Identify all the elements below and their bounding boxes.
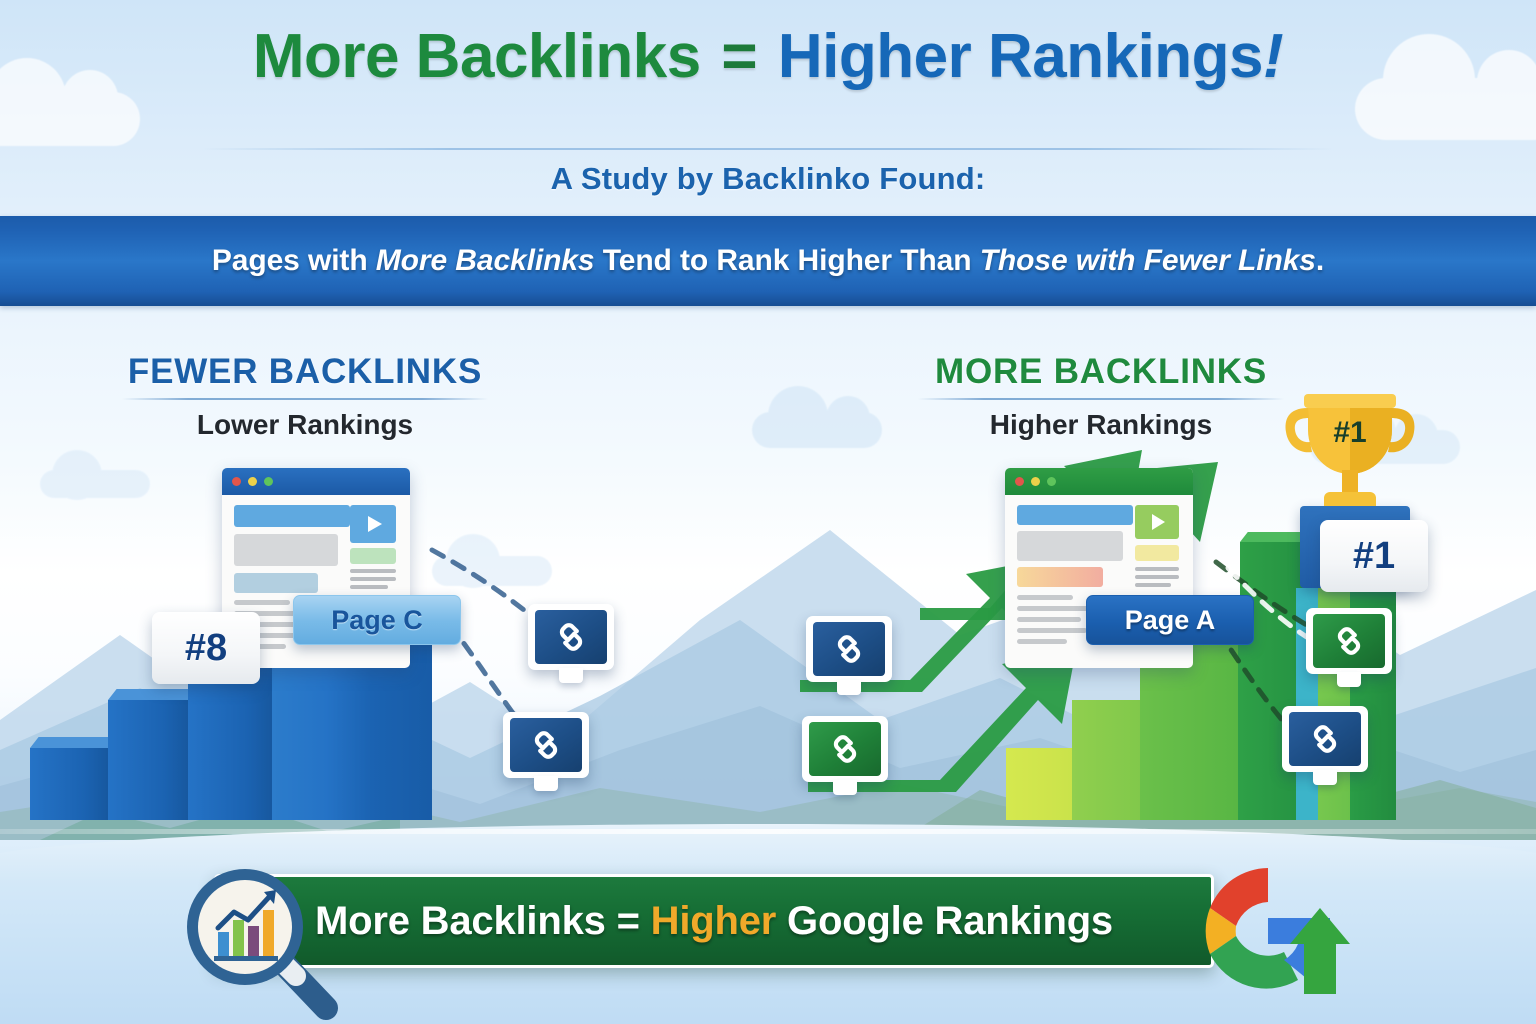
content-line — [350, 577, 396, 581]
page-title: More Backlinks = Higher Rankings! — [0, 26, 1536, 88]
video-thumbnail — [1135, 505, 1179, 539]
video-thumbnail — [350, 505, 396, 543]
link-chain-icon — [553, 619, 589, 655]
band-emphasis-1: More Backlinks — [376, 244, 595, 277]
link-chain-icon — [528, 727, 564, 763]
content-line — [234, 600, 290, 605]
statement-band: Pages with More Backlinks Tend to Rank H… — [0, 216, 1536, 306]
fewer-backlinks-heading: FEWER BACKLINKS — [122, 352, 488, 392]
content-line — [350, 585, 388, 589]
band-emphasis-2: Those with Fewer Links — [980, 244, 1316, 277]
title-exclamation: ! — [1263, 22, 1283, 91]
content-line — [350, 569, 396, 573]
higher-rankings-subheading: Higher Rankings — [918, 409, 1284, 441]
content-block — [1017, 505, 1133, 525]
cta-part-2: Google Rankings — [776, 899, 1113, 943]
play-button-icon — [350, 505, 396, 543]
content-line — [1017, 639, 1067, 644]
link-chain-icon — [1331, 623, 1367, 659]
content-block — [350, 548, 396, 564]
link-monitor-icon-blue-1 — [528, 604, 614, 688]
link-monitor-icon-blue-3 — [806, 616, 892, 700]
window-control-dot-green[interactable] — [1047, 477, 1056, 486]
title-part-2: Higher Rankings — [778, 22, 1263, 91]
link-monitor-icon-blue-2 — [503, 712, 589, 796]
content-line — [1017, 617, 1081, 622]
content-block — [1017, 531, 1123, 561]
browser-titlebar — [222, 468, 410, 495]
cta-highlight: Higher — [651, 899, 776, 943]
content-block — [234, 573, 318, 593]
rank-badge-8: #8 — [152, 612, 260, 684]
window-control-dot-red[interactable] — [1015, 477, 1024, 486]
link-monitor-icon-green-2 — [1306, 608, 1392, 692]
content-block — [1135, 545, 1179, 561]
cloud-icon — [0, 92, 140, 146]
trophy-icon: #1 — [1278, 386, 1422, 518]
trophy-rank-text: #1 — [1333, 416, 1366, 449]
content-line — [1017, 595, 1073, 600]
content-block — [1017, 567, 1103, 587]
link-monitor-icon-blue-4 — [1282, 706, 1368, 790]
page-subtitle: A Study by Backlinko Found: — [0, 161, 1536, 197]
cta-banner-text: More Backlinks = Higher Google Rankings — [315, 899, 1113, 944]
section-heading-more-backlinks: MORE BACKLINKS Higher Rankings — [918, 352, 1284, 441]
link-chain-icon — [1307, 721, 1343, 757]
content-line — [1135, 567, 1179, 571]
content-line — [1017, 606, 1091, 611]
rank-badge-1: #1 — [1320, 520, 1428, 592]
window-control-dot-red[interactable] — [232, 477, 241, 486]
content-block — [234, 505, 350, 527]
page-a-label[interactable]: Page A — [1086, 595, 1254, 645]
window-control-dot-green[interactable] — [264, 477, 273, 486]
play-button-icon — [1135, 505, 1179, 539]
link-monitor-icon-green-1 — [802, 716, 888, 800]
section-rule — [122, 398, 488, 400]
page-c-label[interactable]: Page C — [293, 595, 461, 645]
cta-part-1: More Backlinks = — [315, 899, 651, 943]
infographic-canvas: More Backlinks = Higher Rankings! A Stud… — [0, 0, 1536, 1024]
title-divider — [200, 148, 1336, 150]
browser-titlebar — [1005, 468, 1193, 495]
content-line — [1135, 583, 1171, 587]
magnifier-chart-icon — [178, 862, 348, 1022]
title-part-1: More Backlinks — [253, 22, 701, 91]
section-rule — [918, 398, 1284, 400]
title-equals: = — [717, 22, 761, 91]
google-g-icon — [1186, 856, 1366, 1006]
lower-rankings-subheading: Lower Rankings — [122, 409, 488, 441]
content-line — [1135, 575, 1179, 579]
band-end: . — [1316, 244, 1324, 277]
band-mid: Tend to Rank Higher Than — [595, 244, 980, 277]
link-chain-icon — [827, 731, 863, 767]
band-pre: Pages with — [212, 244, 376, 277]
statement-band-text: Pages with More Backlinks Tend to Rank H… — [0, 244, 1536, 278]
window-control-dot-yellow[interactable] — [1031, 477, 1040, 486]
cta-banner: More Backlinks = Higher Google Rankings — [214, 874, 1214, 968]
window-control-dot-yellow[interactable] — [248, 477, 257, 486]
section-heading-fewer-backlinks: FEWER BACKLINKS Lower Rankings — [122, 352, 488, 441]
content-block — [234, 534, 338, 566]
link-chain-icon — [831, 631, 867, 667]
content-line — [1017, 628, 1087, 633]
more-backlinks-heading: MORE BACKLINKS — [918, 352, 1284, 392]
